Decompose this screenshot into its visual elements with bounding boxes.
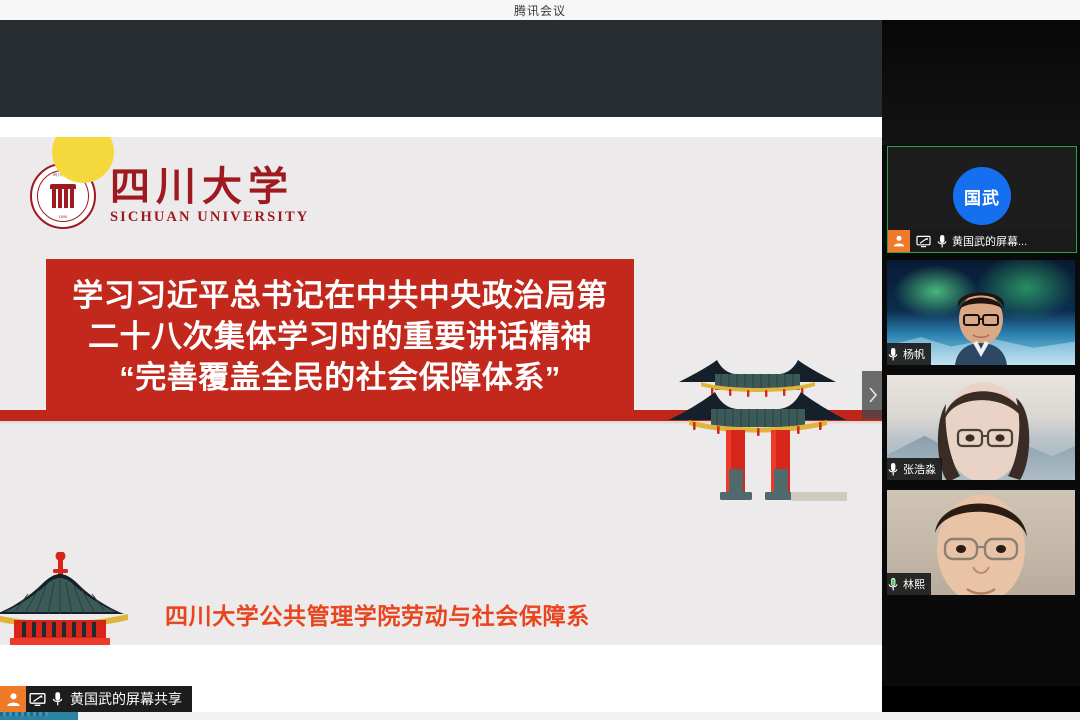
screen-share-label: 黄国武的屏幕共享 <box>66 689 182 709</box>
slide-title-line-3: “完善覆盖全民的社会保障体系” <box>119 358 561 399</box>
progress-bar-track[interactable] <box>0 712 1080 720</box>
slide-subtitle: 四川大学公共管理学院劳动与社会保障系 <box>165 597 590 631</box>
window-title-bar: 腾讯会议 <box>0 0 1080 20</box>
microphone-icon <box>936 234 948 249</box>
participant-video-3 <box>911 491 1051 595</box>
presentation-slide[interactable]: 四川大学 1896 四川大学 SICHUAN UNIVERSITY <box>0 137 882 645</box>
letterbox-top <box>0 20 882 117</box>
participant-tile-2[interactable]: 张浩淼 <box>887 375 1075 480</box>
microphone-icon <box>48 691 66 707</box>
progress-bar-stripes <box>0 712 48 716</box>
host-icon <box>0 686 26 712</box>
microphone-icon <box>887 577 899 592</box>
participant-name-bar-1: 杨帆 <box>887 343 931 365</box>
participant-name-0: 黄国武的屏幕... <box>952 233 1027 249</box>
participant-name-2: 张浩淼 <box>903 461 936 477</box>
paifang-gate-icon <box>665 352 850 527</box>
university-name-en: SICHUAN UNIVERSITY <box>110 209 309 226</box>
university-name-cn: 四川大学 <box>110 166 309 208</box>
seal-building-icon <box>50 184 76 210</box>
slide-title-block: 学习习近平总书记在中共中央政治局第 二十八次集体学习时的重要讲话精神 “完善覆盖… <box>46 259 634 416</box>
participant-tile-1[interactable]: 杨帆 <box>887 260 1075 365</box>
microphone-icon <box>887 347 899 362</box>
participant-tile-3[interactable]: 林熙 <box>887 490 1075 595</box>
participant-panel[interactable]: 国武 黄国武的屏幕... <box>882 20 1080 720</box>
participant-name-bar-0: 黄国武的屏幕... <box>888 230 1077 252</box>
participant-name-bar-2: 张浩淼 <box>887 458 942 480</box>
app-title: 腾讯会议 <box>514 2 566 19</box>
bell-tower-icon: 123 69 <box>0 552 167 645</box>
seal-year: 1896 <box>58 215 67 219</box>
participant-name-3: 林熙 <box>903 576 925 592</box>
host-icon <box>888 230 910 252</box>
shared-screen-stage[interactable]: 四川大学 1896 四川大学 SICHUAN UNIVERSITY <box>0 20 882 700</box>
next-slide-arrow-icon[interactable] <box>862 371 882 419</box>
participant-tile-0[interactable]: 国武 黄国武的屏幕... <box>887 146 1077 253</box>
participant-name-bar-3: 林熙 <box>887 573 931 595</box>
panel-bottom-fill <box>882 686 1080 712</box>
avatar: 国武 <box>953 167 1011 225</box>
participant-name-1: 杨帆 <box>903 346 925 362</box>
participant-video-1 <box>933 285 1029 365</box>
panel-top-spacer <box>882 20 1080 145</box>
screen-share-icon <box>914 230 932 252</box>
slide-title-line-1: 学习习近平总书记在中共中央政治局第 <box>72 276 608 317</box>
microphone-icon <box>887 462 899 477</box>
slide-title-line-2: 二十八次集体学习时的重要讲话精神 <box>88 317 592 358</box>
screen-share-icon <box>26 692 48 707</box>
screen-share-status-bar: 黄国武的屏幕共享 <box>0 686 192 712</box>
